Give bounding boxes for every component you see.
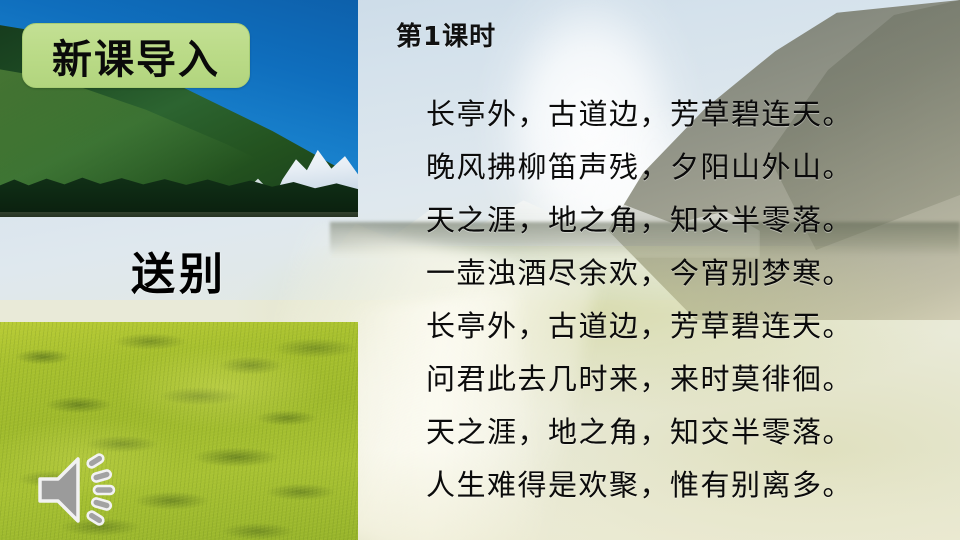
- audio-play-control[interactable]: [32, 452, 124, 528]
- lesson-period-label: 第1课时: [396, 16, 496, 53]
- poem-line: 天之涯，地之角，知交半零落。: [396, 194, 956, 247]
- poem-line: 一壶浊酒尽余欢，今宵别梦寒。: [396, 247, 956, 300]
- poem-line: 问君此去几时来，来时莫徘徊。: [396, 353, 956, 406]
- poem-line: 人生难得是欢聚，惟有别离多。: [396, 459, 956, 512]
- song-title: 送别: [0, 217, 358, 322]
- poem-line: 长亭外，古道边，芳草碧连天。: [396, 88, 956, 141]
- poem-line: 天之涯，地之角，知交半零落。: [396, 406, 956, 459]
- section-badge-label: 新课导入: [52, 27, 220, 85]
- poem-body: 长亭外，古道边，芳草碧连天。 晚风拂柳笛声残，夕阳山外山。 天之涯，地之角，知交…: [396, 88, 956, 512]
- speaker-icon[interactable]: [32, 452, 124, 528]
- section-badge-new-lesson[interactable]: 新课导入: [22, 23, 250, 88]
- poem-line: 长亭外，古道边，芳草碧连天。: [396, 300, 956, 353]
- slide-canvas: 新课导入 送别 第1课时 长亭外，古道边，芳草碧连天。 晚风拂柳笛声残，夕阳山外…: [0, 0, 960, 540]
- poem-line: 晚风拂柳笛声残，夕阳山外山。: [396, 141, 956, 194]
